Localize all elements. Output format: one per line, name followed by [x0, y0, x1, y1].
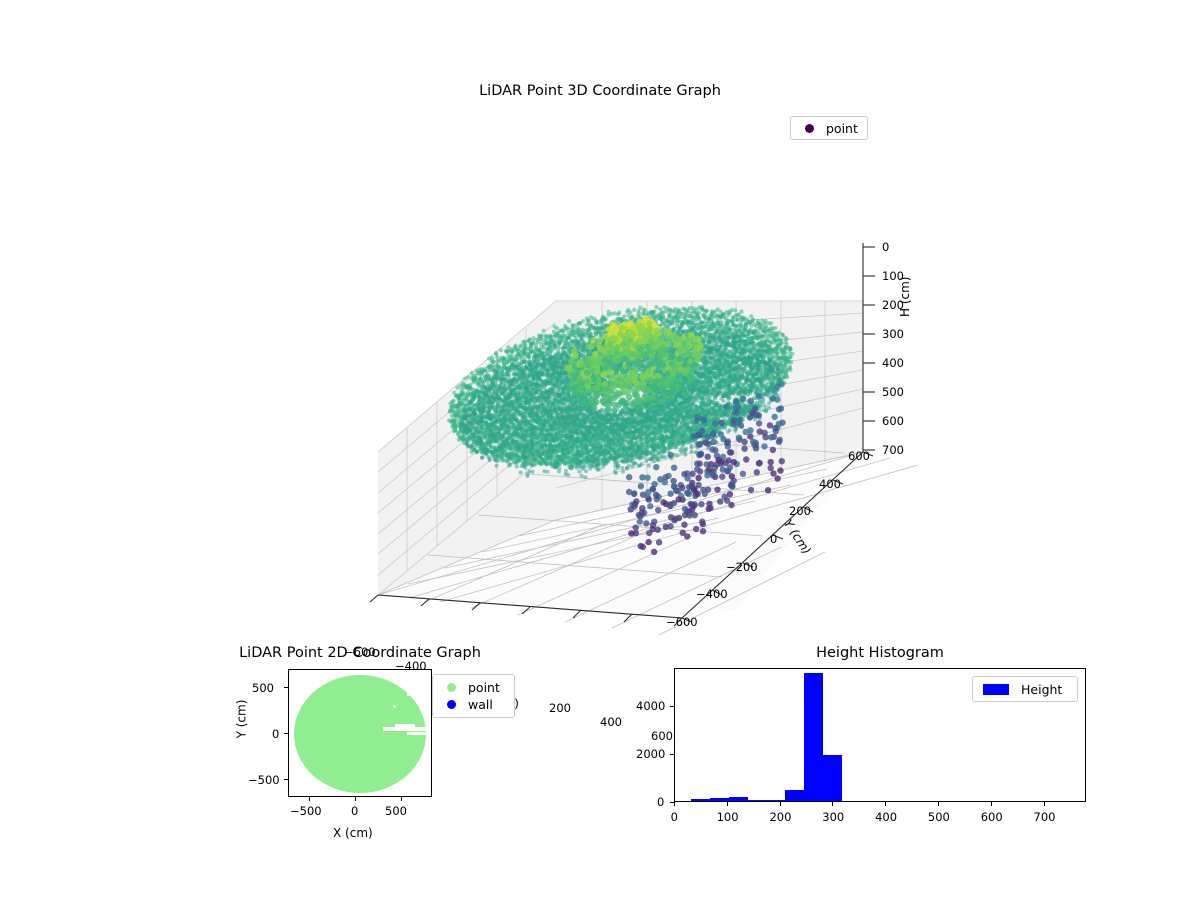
- ytick-label: 600: [848, 449, 870, 463]
- histogram-xtick-label: 300: [822, 810, 844, 824]
- ytick-label: 200: [789, 504, 811, 518]
- ytick-label: −600: [666, 615, 698, 629]
- plot2d-title: LiDAR Point 2D Coordinate Graph: [148, 645, 572, 661]
- histogram-xtick: [674, 802, 675, 806]
- point-marker-icon: [447, 683, 456, 692]
- histogram-bar: [766, 800, 785, 801]
- xtick-label: 600: [651, 729, 673, 743]
- wall-marker-icon: [447, 700, 456, 709]
- plot2d-ytick-label: 0: [272, 727, 279, 741]
- xtick-label: 400: [600, 715, 622, 729]
- ztick-label: 600: [882, 414, 904, 428]
- scan-gap-region: [415, 694, 431, 700]
- ztick-label: 500: [882, 385, 904, 399]
- histogram-xtick: [1044, 802, 1045, 806]
- ztick-label: 300: [882, 327, 904, 341]
- histogram-ytick-label: 0: [657, 795, 664, 809]
- histogram-xtick: [727, 802, 728, 806]
- histogram-xtick-label: 500: [928, 810, 950, 824]
- histogram-ytick: [670, 706, 674, 707]
- scan-gap-region: [395, 724, 415, 727]
- histogram-xtick-label: 700: [1034, 810, 1056, 824]
- histogram-bar: [823, 755, 841, 801]
- scan-gap-region: [407, 732, 431, 735]
- plot2d-xtick-label: 500: [385, 804, 407, 818]
- histogram-ytick: [670, 754, 674, 755]
- scan-gap-region: [393, 705, 396, 708]
- histogram-bar: [748, 800, 766, 801]
- point-marker-icon: [805, 124, 814, 133]
- plot2d-ytick: [284, 687, 288, 688]
- histogram-bar: [729, 797, 748, 801]
- legend-label-point: point: [468, 680, 500, 695]
- matplotlib-figure: LiDAR Point 3D Coordinate Graph point: [0, 0, 1200, 900]
- legend-label-height: Height: [1021, 682, 1062, 697]
- ztick-label: 0: [882, 240, 889, 254]
- legend-item-wall: wall: [441, 696, 506, 713]
- plot2d-xtick: [309, 797, 310, 801]
- legend-item-point: point: [441, 679, 506, 696]
- ytick-label: 400: [819, 477, 841, 491]
- zticks-3d: [863, 247, 875, 450]
- plot2d-ylabel: Y (cm): [234, 700, 248, 739]
- histogram-xtick-label: 600: [981, 810, 1003, 824]
- histogram-ytick: [670, 802, 674, 803]
- legend-label-point: point: [826, 121, 858, 136]
- plot3d-axes[interactable]: −600 −400 −200 0 200 400 600 X (cm) 600 …: [330, 140, 950, 640]
- histogram-legend[interactable]: Height: [972, 676, 1078, 702]
- histogram-xtick: [885, 802, 886, 806]
- histogram-xtick-label: 200: [769, 810, 791, 824]
- histogram-bar: [785, 790, 804, 801]
- plot2d-ytick: [284, 733, 288, 734]
- plot2d-ytick-label: 500: [252, 681, 274, 695]
- plot3d-zlabel: H (cm): [898, 277, 912, 318]
- ytick-label: −200: [726, 560, 758, 574]
- histogram-xtick: [780, 802, 781, 806]
- histogram-bar: [804, 673, 823, 801]
- legend-label-wall: wall: [468, 697, 493, 712]
- histogram-bar: [691, 799, 710, 801]
- plot2d-ytick-label: −500: [248, 773, 280, 787]
- plot3d-legend[interactable]: point: [790, 116, 868, 140]
- histogram-xtick-label: 100: [717, 810, 739, 824]
- histogram-xtick-label: 400: [875, 810, 897, 824]
- histogram-xtick: [832, 802, 833, 806]
- plot2d-xtick: [401, 797, 402, 801]
- histogram-xtick-label: 0: [671, 810, 678, 824]
- plot2d-legend[interactable]: point wall: [432, 674, 515, 718]
- histogram-xtick: [938, 802, 939, 806]
- ztick-label: 400: [882, 356, 904, 370]
- height-color-swatch: [983, 684, 1009, 695]
- legend-item-height: Height: [981, 681, 1069, 697]
- histogram-bar: [710, 798, 729, 801]
- ytick-label: 0: [770, 532, 777, 546]
- histogram-xtick: [991, 802, 992, 806]
- ytick-label: −400: [696, 587, 728, 601]
- plot2d-xtick-label: −500: [290, 804, 322, 818]
- plot3d-canvas: [330, 140, 950, 640]
- histogram-title: Height Histogram: [668, 645, 1092, 661]
- plot2d-ytick: [284, 779, 288, 780]
- plot2d-xlabel: X (cm): [333, 826, 373, 840]
- legend-item-point: point: [799, 121, 859, 136]
- scan-gap-region: [383, 727, 431, 731]
- plot2d-xtick: [355, 797, 356, 801]
- xtick-label: 200: [549, 701, 571, 715]
- plot2d-xtick-label: 0: [351, 804, 358, 818]
- ztick-label: 700: [882, 443, 904, 457]
- plot2d-axes[interactable]: [288, 669, 432, 797]
- histogram-ytick-label: 4000: [636, 699, 665, 713]
- histogram-ytick-label: 2000: [636, 747, 665, 761]
- plot3d-title: LiDAR Point 3D Coordinate Graph: [0, 83, 1200, 99]
